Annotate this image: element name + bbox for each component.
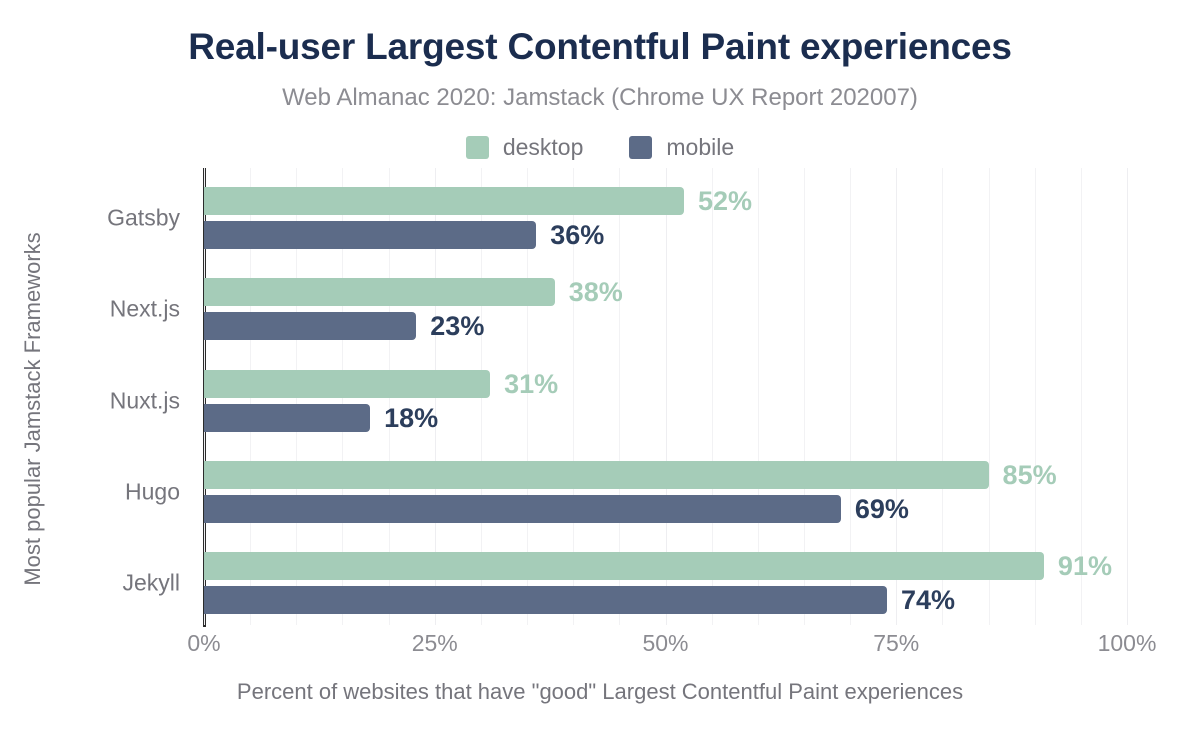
legend-swatch-desktop: [466, 136, 489, 159]
bar-value-label: 91%: [1058, 552, 1112, 580]
bar-row-mobile: 69%: [204, 495, 909, 523]
bar-row-desktop: 52%: [204, 187, 752, 215]
x-tick-label: 25%: [412, 630, 458, 657]
bar-row-desktop: 31%: [204, 370, 558, 398]
y-axis-label-gatsby: Gatsby: [107, 204, 180, 231]
x-tick-label: 75%: [873, 630, 919, 657]
bar-value-label: 85%: [1003, 461, 1057, 489]
x-axis-ticks: 0%25%50%75%100%: [204, 630, 1127, 664]
bar-value-label: 38%: [569, 278, 623, 306]
bar-value-label: 52%: [698, 187, 752, 215]
bar-group: 85%69%: [204, 461, 1127, 523]
x-tick-label: 100%: [1098, 630, 1157, 657]
chart-container: Real-user Largest Contentful Paint exper…: [0, 0, 1200, 742]
x-axis-title: Percent of websites that have "good" Lar…: [0, 679, 1200, 705]
bar-desktop[interactable]: [204, 278, 555, 306]
bar-row-desktop: 91%: [204, 552, 1112, 580]
bar-group: 38%23%: [204, 278, 1127, 340]
legend-item-mobile[interactable]: mobile: [629, 136, 734, 159]
bar-value-label: 31%: [504, 370, 558, 398]
bar-groups: 52%36%38%23%31%18%85%69%91%74%: [204, 168, 1127, 625]
bar-group: 52%36%: [204, 187, 1127, 249]
bar-value-label: 36%: [550, 221, 604, 249]
bar-row-mobile: 18%: [204, 404, 438, 432]
y-axis-title: Most popular Jamstack Frameworks: [20, 209, 46, 609]
bar-desktop[interactable]: [204, 370, 490, 398]
x-tick-label: 0%: [187, 630, 220, 657]
bar-row-mobile: 74%: [204, 586, 955, 614]
bar-value-label: 18%: [384, 404, 438, 432]
legend-swatch-mobile: [629, 136, 652, 159]
chart-subtitle: Web Almanac 2020: Jamstack (Chrome UX Re…: [0, 84, 1200, 112]
bar-mobile[interactable]: [204, 221, 536, 249]
y-axis-label-jekyll: Jekyll: [122, 570, 180, 597]
y-axis-label-hugo: Hugo: [125, 478, 180, 505]
bar-mobile[interactable]: [204, 404, 370, 432]
plot-area: 52%36%38%23%31%18%85%69%91%74%: [204, 168, 1127, 625]
bar-mobile[interactable]: [204, 312, 416, 340]
bar-desktop[interactable]: [204, 552, 1044, 580]
legend-label-mobile: mobile: [666, 136, 734, 159]
bar-row-mobile: 36%: [204, 221, 604, 249]
bar-value-label: 23%: [430, 312, 484, 340]
y-axis-label-nuxt-js: Nuxt.js: [110, 387, 180, 414]
bar-desktop[interactable]: [204, 187, 684, 215]
bar-mobile[interactable]: [204, 586, 887, 614]
chart-legend: desktop mobile: [0, 136, 1200, 159]
bar-desktop[interactable]: [204, 461, 989, 489]
bar-group: 91%74%: [204, 552, 1127, 614]
bar-group: 31%18%: [204, 370, 1127, 432]
bar-value-label: 74%: [901, 586, 955, 614]
legend-item-desktop[interactable]: desktop: [466, 136, 584, 159]
legend-label-desktop: desktop: [503, 136, 584, 159]
chart-title: Real-user Largest Contentful Paint exper…: [0, 26, 1200, 68]
bar-row-desktop: 38%: [204, 278, 623, 306]
y-axis-label-next-js: Next.js: [110, 296, 180, 323]
bar-row-mobile: 23%: [204, 312, 484, 340]
x-tick-label: 50%: [642, 630, 688, 657]
bar-value-label: 69%: [855, 495, 909, 523]
bar-row-desktop: 85%: [204, 461, 1057, 489]
gridline: [1127, 168, 1128, 625]
bar-mobile[interactable]: [204, 495, 841, 523]
